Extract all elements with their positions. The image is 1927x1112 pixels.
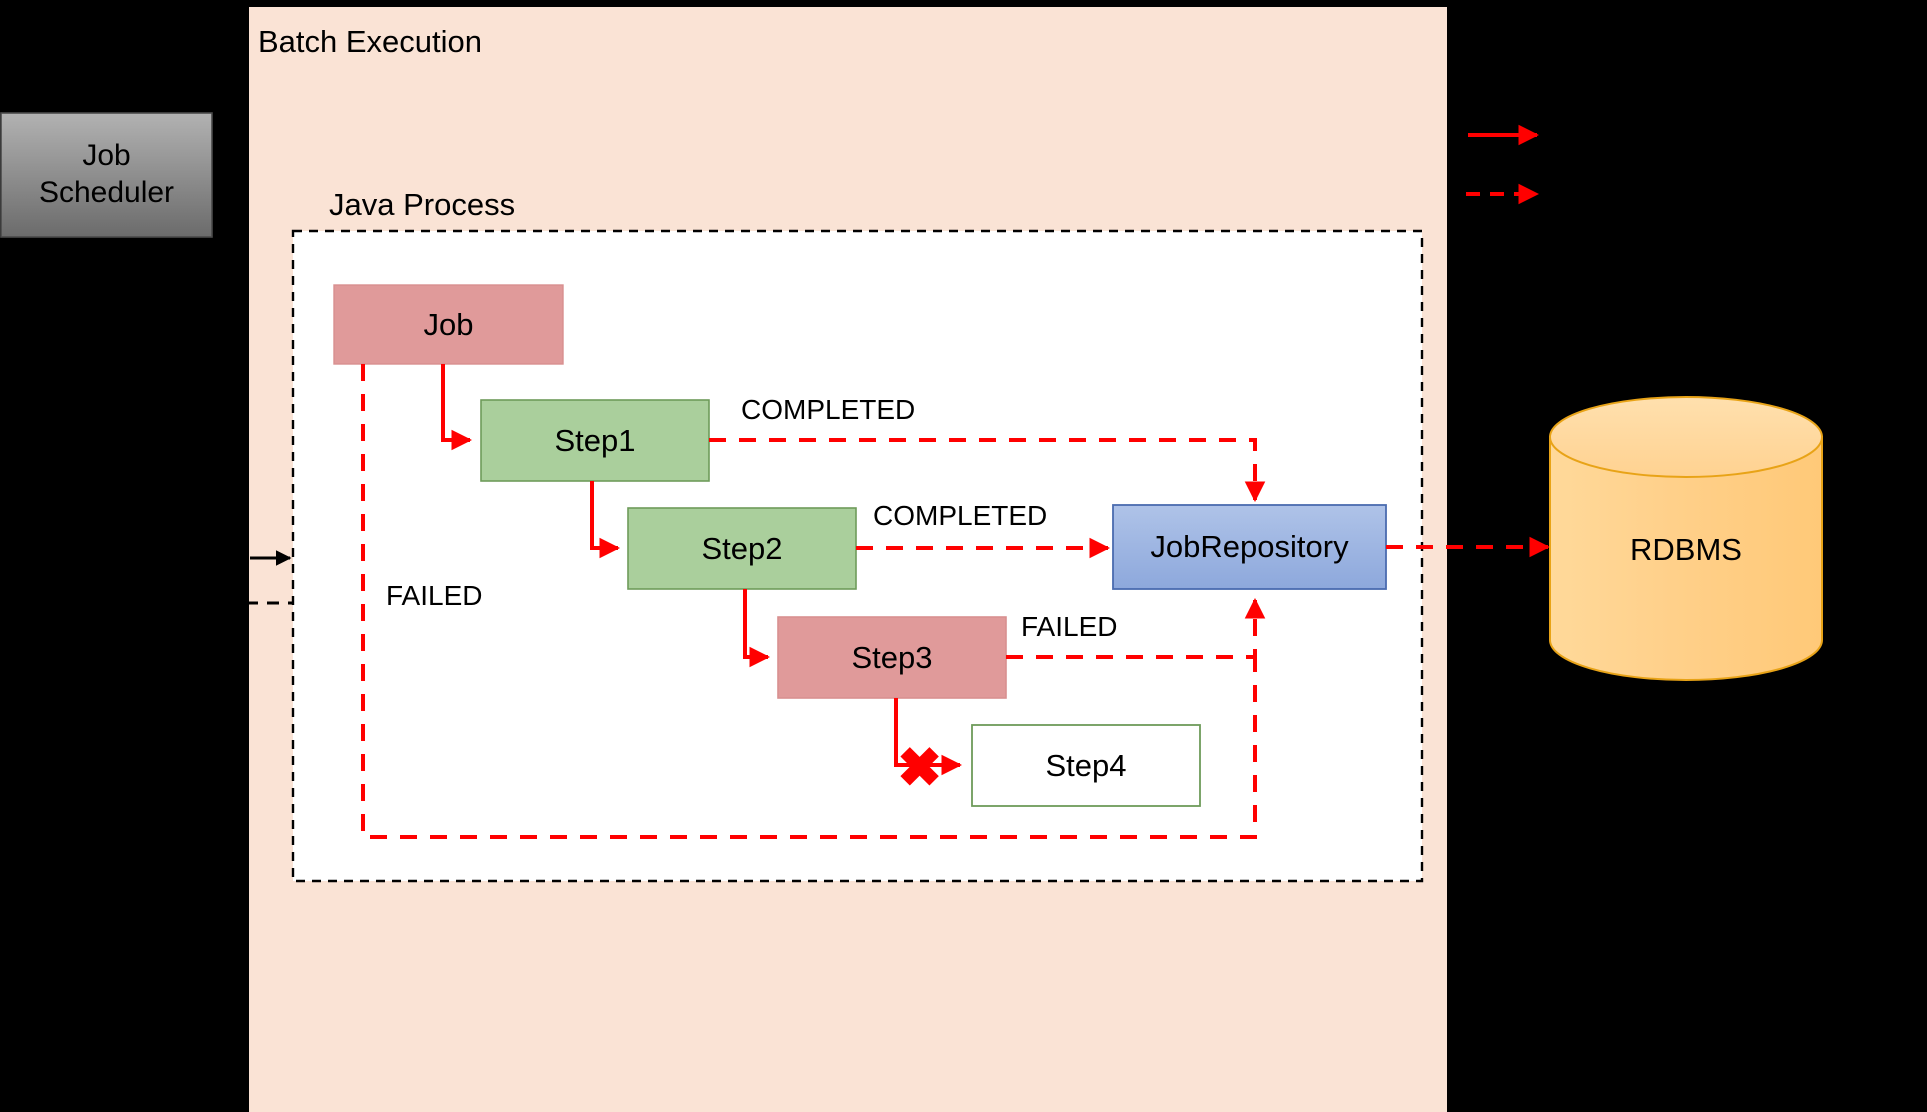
step3-label: Step3 (778, 617, 1006, 698)
step2-label: Step2 (628, 508, 856, 589)
job-repository-label: JobRepository (1113, 505, 1386, 589)
job-label: Job (334, 285, 563, 364)
job-scheduler-label: Job Scheduler (1, 113, 212, 237)
rdbms-label: RDBMS (1550, 530, 1822, 570)
diagram-canvas: Batch Execution Java Process Job Schedul… (0, 0, 1927, 1112)
job-scheduler-label-line2: Scheduler (39, 175, 174, 212)
job-scheduler-label-line1: Job (82, 138, 130, 175)
step4-label: Step4 (972, 725, 1200, 806)
step1-label: Step1 (481, 400, 709, 481)
